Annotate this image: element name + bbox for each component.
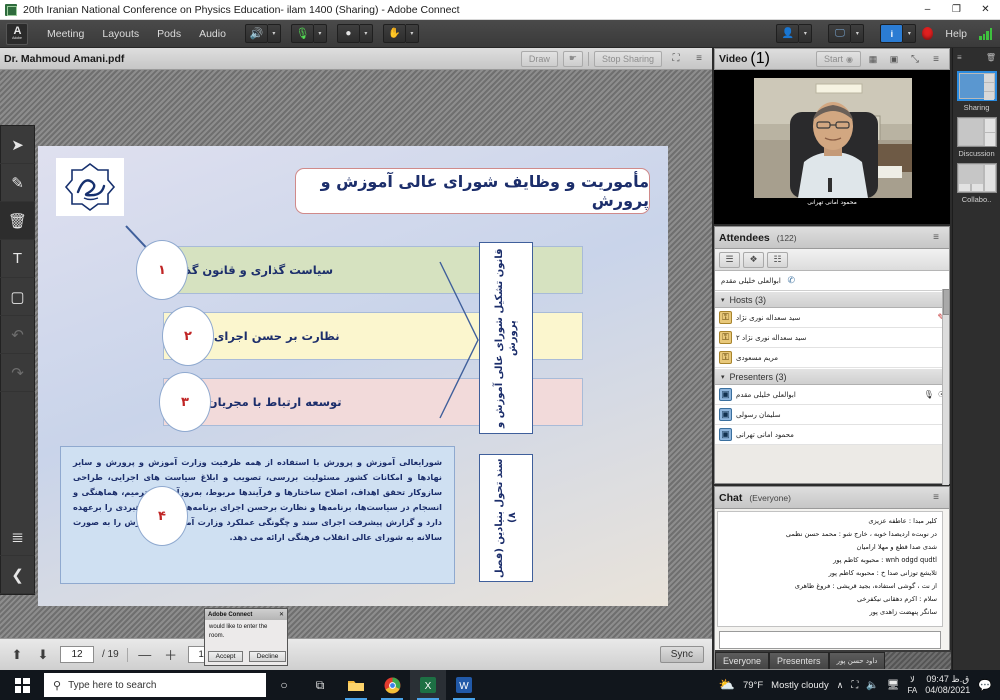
page-total-label: / 19 bbox=[102, 649, 119, 660]
word-icon[interactable]: W bbox=[446, 670, 482, 700]
stop-sharing-button[interactable]: Stop Sharing bbox=[594, 51, 662, 67]
start-button[interactable] bbox=[0, 670, 44, 700]
volume-icon[interactable]: 🔈 bbox=[866, 680, 878, 691]
sync-button[interactable]: Sync bbox=[660, 646, 704, 663]
attendees-scrollbar[interactable] bbox=[942, 289, 949, 485]
webcam-glyph: ● bbox=[345, 28, 351, 39]
weather-temperature[interactable]: 79°F bbox=[743, 680, 763, 691]
system-tray: ⛅ 79°F Mostly cloudy ∧ ⛶ 🔈 🖥 لا FA 09:47… bbox=[719, 674, 1000, 696]
info-caret-icon[interactable]: ▾ bbox=[903, 24, 916, 43]
tab-private-chat[interactable]: داود حسن پور bbox=[829, 652, 886, 669]
share-pod: Dr. Mahmoud Amani.pdf Draw ☛ Stop Sharin… bbox=[0, 48, 712, 670]
layout-item-collaboration[interactable]: Collabo.. bbox=[957, 163, 997, 204]
weather-description[interactable]: Mostly cloudy bbox=[771, 680, 829, 691]
video-pod-count: (1) bbox=[750, 50, 770, 68]
slide-bracket-icon bbox=[438, 256, 482, 426]
zoom-in-button[interactable]: ＋ bbox=[162, 645, 180, 664]
task-view-icon[interactable]: ⧉ bbox=[302, 670, 338, 700]
tray-expand-icon[interactable]: ∧ bbox=[837, 680, 844, 691]
chat-pod-header: Chat (Everyone) ≡ bbox=[715, 487, 949, 509]
windows-logo-icon bbox=[15, 678, 30, 693]
slide-number-1: ۱ bbox=[136, 240, 188, 300]
list-item: سلام : اکرم دهقانی نیکفرخی bbox=[723, 593, 937, 606]
video-pod-menu-icon[interactable]: ≡ bbox=[927, 51, 945, 67]
speaker-glyph: 🔊 bbox=[250, 27, 264, 40]
attendee-name: محمود امانی تهرانی bbox=[736, 431, 794, 439]
video-fullscreen-icon[interactable]: ⤡ bbox=[906, 51, 924, 67]
maximize-button[interactable]: ❐ bbox=[942, 0, 971, 20]
layouts-menu-icon[interactable]: ≡ bbox=[957, 53, 962, 62]
attendee-caret-icon[interactable]: ▾ bbox=[799, 24, 812, 43]
app-icon bbox=[5, 4, 17, 16]
previous-page-icon[interactable]: ⬆ bbox=[8, 647, 26, 663]
right-pod-column: Video (1) Start ◉ ▦ ▣ ⤡ ≡ bbox=[712, 48, 952, 670]
attendees-group-hosts[interactable]: ▾ Hosts (3) bbox=[715, 291, 949, 308]
attendees-pod-header: Attendees (122) ≡ bbox=[715, 227, 949, 249]
attendee-control: 👤 ▾ bbox=[776, 24, 812, 43]
attendee-self-name: ابوالعلی خلیلی مقدم bbox=[721, 277, 781, 285]
list-item: ثلایشع توزانی صدا خ : محبوبه کاظم پور bbox=[723, 567, 937, 580]
next-page-icon[interactable]: ⬇ bbox=[34, 647, 52, 663]
fullscreen-icon[interactable]: ⛶ bbox=[667, 51, 685, 67]
attendee-name: سید سعداله نوری نژاد bbox=[736, 314, 800, 322]
layouts-sidebar: ≡ 🗑 Sharing Discussion bbox=[952, 48, 1000, 670]
raise-hand-caret-icon[interactable]: ▾ bbox=[406, 24, 419, 43]
divider bbox=[588, 52, 589, 66]
share-pod-header: Dr. Mahmoud Amani.pdf Draw ☛ Stop Sharin… bbox=[0, 48, 712, 70]
list-item: wnh odgd qudtl : محبوبه کاظم پور bbox=[723, 554, 937, 567]
dialog-header: Adobe Connect ✕ bbox=[205, 609, 287, 620]
list-item: کلیر مبدا : عاطفه عزیزی bbox=[723, 515, 937, 528]
raise-hand-icon[interactable]: ✋ bbox=[383, 24, 406, 43]
emblem-svg bbox=[64, 162, 116, 212]
presenter-badge-icon: ▣ bbox=[719, 388, 732, 401]
notifications-icon[interactable]: 💬 bbox=[978, 679, 992, 692]
phone-icon: ✆ bbox=[785, 274, 798, 287]
layout-label-sharing: Sharing bbox=[957, 103, 997, 112]
windows-taskbar: ⚲ Type here to search ○ ⧉ X W bbox=[0, 670, 1000, 700]
annotation-toolbar: ➤ ✎ 🗑 T ▢ ↶ ↷ ≣ ❮ bbox=[0, 125, 35, 595]
dialog-title: Adobe Connect bbox=[208, 612, 252, 618]
list-item: از نت ، گوشی استفاده، بجید قریشی : فروغ … bbox=[723, 580, 937, 593]
webcam-speaker-name: محمود امانی تهرانی bbox=[714, 199, 950, 206]
layout-label-collaboration: Collabo.. bbox=[957, 195, 997, 204]
ministry-emblem-icon bbox=[56, 158, 124, 216]
chat-tab-filler bbox=[885, 652, 951, 669]
attendees-scroll-thumb[interactable] bbox=[943, 289, 950, 315]
svg-text:X: X bbox=[425, 681, 432, 692]
webcam-image bbox=[754, 78, 912, 198]
chat-pod-menu-icon[interactable]: ≡ bbox=[927, 490, 945, 506]
cortana-glyph: ○ bbox=[280, 678, 287, 692]
adobe-logo-word: Adobe bbox=[12, 36, 22, 41]
layouts-delete-icon[interactable]: 🗑 bbox=[986, 53, 996, 62]
chat-message-list[interactable]: کلیر مبدا : عاطفه عزیزی در نوبت‌ه اردیصد… bbox=[717, 511, 943, 627]
excel-icon[interactable]: X bbox=[410, 670, 446, 700]
attendee-name: مریم مسعودی bbox=[736, 354, 778, 362]
zoom-out-button[interactable]: — bbox=[136, 647, 154, 662]
layout-item-sharing[interactable]: Sharing bbox=[957, 71, 997, 112]
start-webcam-button[interactable]: Start ◉ bbox=[816, 51, 861, 67]
attendees-toolbar: ☰ ❖ ☷ bbox=[715, 249, 949, 271]
window-controls: – ❐ ✕ bbox=[913, 0, 1000, 20]
chrome-icon[interactable] bbox=[374, 670, 410, 700]
connection-status-icon[interactable] bbox=[979, 28, 996, 40]
dialog-buttons: Accept Decline bbox=[205, 651, 289, 662]
microphone-icon[interactable]: 🎙 bbox=[291, 24, 314, 43]
enter-room-request-dialog: Adobe Connect ✕ would like to enter the … bbox=[204, 608, 288, 666]
pod-menu-icon[interactable]: ≡ bbox=[690, 51, 708, 67]
list-item: شدی صدا قطع و مهلا ارامیان bbox=[723, 541, 937, 554]
layers-tool[interactable]: ≣ bbox=[0, 518, 35, 556]
menubar-right-group: 👤 ▾ 🖵 ▾ i ▾ Help bbox=[766, 24, 1000, 43]
host-badge-icon: ⚿ bbox=[719, 351, 732, 364]
weather-icon: ⛅ bbox=[719, 677, 735, 693]
meeting-stage: Dr. Mahmoud Amani.pdf Draw ☛ Stop Sharin… bbox=[0, 48, 1000, 670]
menu-pods[interactable]: Pods bbox=[148, 24, 190, 44]
dialog-message: would like to enter the room. bbox=[205, 620, 287, 644]
language-indicator[interactable]: لا FA bbox=[907, 674, 917, 696]
speaker-control: 🔊 ▾ bbox=[245, 24, 281, 43]
redo-tool[interactable]: ↷ bbox=[0, 354, 35, 392]
speaker-icon[interactable]: 🔊 bbox=[245, 24, 268, 43]
table-row[interactable]: ⚿ مریم مسعودی bbox=[715, 348, 949, 368]
raise-hand-control: ✋ ▾ bbox=[383, 24, 419, 43]
slide-side-box-top: قانون تشکیل شورای عالی آموزش و پرورش bbox=[479, 242, 533, 434]
clock-time: 09:47 ق.ظ bbox=[926, 674, 969, 684]
video-pod-body: محمود امانی تهرانی bbox=[714, 70, 950, 224]
adobe-logo-icon: A Adobe bbox=[6, 23, 28, 45]
info-glyph: i bbox=[891, 29, 894, 39]
presenter-badge-icon: ▣ bbox=[719, 428, 732, 441]
slide-number-3: ۳ bbox=[159, 372, 211, 432]
slide-title: مأموریت و وظایف شورای عالی آموزش و پرورش bbox=[295, 168, 650, 214]
list-view-icon[interactable]: ☰ bbox=[719, 252, 740, 268]
video-pod-header: Video (1) Start ◉ ▦ ▣ ⤡ ≡ bbox=[714, 48, 950, 70]
screen-share-control: 🖵 ▾ bbox=[828, 24, 864, 43]
divider bbox=[127, 648, 128, 662]
attendees-pod-title: Attendees bbox=[719, 232, 770, 244]
slide-side-box-bottom-label: سند تحول بنیادین (فصل ۸) bbox=[493, 455, 519, 581]
undo-tool[interactable]: ↶ bbox=[0, 316, 35, 354]
hosts-group-label: Hosts (3) bbox=[730, 295, 767, 305]
layout-thumb-discussion bbox=[957, 117, 997, 147]
decline-button[interactable]: Decline bbox=[249, 651, 287, 662]
file-explorer-icon[interactable] bbox=[338, 670, 374, 700]
mic-glyph: 🎙 bbox=[295, 27, 309, 40]
language-line2: FA bbox=[907, 686, 917, 695]
table-row[interactable]: ⚿ سید سعداله نوری نژاد ✎ bbox=[715, 308, 949, 328]
screen-share-icon[interactable]: 🖵 bbox=[828, 24, 851, 43]
attendee-icon[interactable]: 👤 bbox=[776, 24, 799, 43]
hand-glyph: ✋ bbox=[388, 28, 400, 39]
attendees-pod: Attendees (122) ≡ ☰ ❖ ☷ ✆ ابوالعلی خلیلی… bbox=[714, 226, 950, 484]
slide-side-box-top-label: قانون تشکیل شورای عالی آموزش و پرورش bbox=[493, 243, 519, 433]
adobe-logo-letter: A bbox=[14, 27, 21, 36]
menu-meeting[interactable]: Meeting bbox=[38, 24, 93, 44]
attendees-group-presenters[interactable]: ▾ Presenters (3) bbox=[715, 368, 949, 385]
list-item: سانگر پنهضت زاهدی پور bbox=[723, 606, 937, 619]
presenter-badge-icon: ▣ bbox=[719, 408, 732, 421]
microphone-control: 🎙 ▾ bbox=[291, 24, 327, 43]
chat-pod: Chat (Everyone) ≡ کلیر مبدا : عاطفه عزیز… bbox=[714, 486, 950, 670]
network-icon[interactable]: 🖥 bbox=[887, 680, 900, 691]
menu-audio[interactable]: Audio bbox=[190, 24, 235, 44]
webcam-caret-icon[interactable]: ▾ bbox=[360, 24, 373, 43]
layouts-header: ≡ 🗑 bbox=[953, 48, 1000, 66]
window-title: 20th Iranian National Conference on Phys… bbox=[23, 4, 460, 16]
minimize-button[interactable]: – bbox=[913, 0, 942, 20]
cortana-icon[interactable]: ○ bbox=[266, 670, 302, 700]
language-line1: لا bbox=[910, 675, 915, 684]
select-tool[interactable]: ➤ bbox=[0, 126, 35, 164]
attendee-name: ابوالعلی خلیلی مقدم bbox=[736, 391, 796, 399]
filmstrip-view-icon[interactable]: ▣ bbox=[885, 51, 903, 67]
presentation-slide[interactable]: مأموریت و وظایف شورای عالی آموزش و پرورش… bbox=[38, 146, 668, 606]
presenters-group-label: Presenters (3) bbox=[730, 372, 787, 382]
table-row[interactable]: ▣ سلیمان رسولی bbox=[715, 405, 949, 425]
app-menubar: A Adobe Meeting Layouts Pods Audio 🔊 ▾ 🎙… bbox=[0, 20, 1000, 48]
layout-thumb-collaboration bbox=[957, 163, 997, 193]
help-menu[interactable]: Help bbox=[939, 25, 973, 43]
attendee-name: سلیمان رسولی bbox=[736, 411, 781, 419]
slide-number-2: ۲ bbox=[162, 306, 214, 366]
attendee-name: سید سعداله نوری نژاد ۲ bbox=[736, 334, 806, 342]
host-badge-icon: ⚿ bbox=[719, 331, 732, 344]
svg-text:W: W bbox=[459, 681, 469, 692]
delete-tool[interactable]: 🗑 bbox=[0, 202, 35, 240]
info-icon[interactable]: i bbox=[880, 24, 903, 43]
close-button[interactable]: ✕ bbox=[971, 0, 1000, 20]
chat-scope-label: (Everyone) bbox=[749, 493, 791, 503]
speaker-caret-icon[interactable]: ▾ bbox=[268, 24, 281, 43]
webcam-icon[interactable]: ● bbox=[337, 24, 360, 43]
adobe-connect-window: 20th Iranian National Conference on Phys… bbox=[0, 0, 1000, 700]
tab-presenters[interactable]: Presenters bbox=[769, 652, 829, 669]
webcam-control: ● ▾ bbox=[337, 24, 373, 43]
menu-layouts[interactable]: Layouts bbox=[93, 24, 148, 44]
attendees-pod-menu-icon[interactable]: ≡ bbox=[927, 230, 945, 246]
table-row[interactable]: ▣ ابوالعلی خلیلی مقدم 🎙 ☉ bbox=[715, 385, 949, 405]
hosts-collapse-icon: ▾ bbox=[721, 296, 725, 304]
attendee-glyph: 👤 bbox=[782, 28, 794, 39]
marker-tool[interactable]: ✎ bbox=[0, 164, 35, 202]
host-badge-icon: ⚿ bbox=[719, 311, 732, 324]
search-input[interactable]: ⚲ Type here to search bbox=[44, 673, 266, 697]
window-titlebar: 20th Iranian National Conference on Phys… bbox=[0, 0, 1000, 20]
attendees-count: (122) bbox=[777, 233, 797, 243]
slide-side-box-bottom: سند تحول بنیادین (فصل ۸) bbox=[479, 454, 533, 582]
pointer-button[interactable]: ☛ bbox=[563, 51, 583, 67]
tab-everyone[interactable]: Everyone bbox=[715, 652, 769, 669]
pdf-navigation-toolbar: ⬆ ⬇ 12 / 19 — ＋ 100% ▾ ✋ Sync bbox=[0, 638, 712, 670]
draw-button[interactable]: Draw bbox=[521, 51, 558, 67]
screen-share-caret-icon[interactable]: ▾ bbox=[851, 24, 864, 43]
dialog-close-icon[interactable]: ✕ bbox=[279, 611, 284, 618]
attendee-self-row[interactable]: ✆ ابوالعلی خلیلی مقدم bbox=[715, 271, 949, 291]
layout-item-discussion[interactable]: Discussion bbox=[957, 117, 997, 158]
pods-view-icon[interactable]: ❖ bbox=[743, 252, 764, 268]
share-pod-title: Dr. Mahmoud Amani.pdf bbox=[4, 53, 124, 65]
camera-icon[interactable]: ⛶ bbox=[851, 680, 858, 691]
search-icon: ⚲ bbox=[53, 679, 61, 692]
task-view-glyph: ⧉ bbox=[316, 678, 325, 693]
layout-label-discussion: Discussion bbox=[957, 149, 997, 158]
microphone-status-icon: 🎙 bbox=[924, 390, 934, 399]
text-tool[interactable]: T bbox=[0, 240, 35, 278]
start-webcam-label: Start bbox=[824, 54, 843, 64]
table-row[interactable]: ⚿ سید سعداله نوری نژاد ۲ bbox=[715, 328, 949, 348]
slide-paragraph: شورایعالی آموزش و پرورش با استفاده از هم… bbox=[60, 446, 455, 584]
list-item: در نوبت‌ه اردیصدا خوبه ، خارج شو : محمد … bbox=[723, 528, 937, 541]
status-view-icon[interactable]: ☷ bbox=[767, 252, 788, 268]
clock-date: 04/08/2021 bbox=[925, 685, 970, 695]
presenters-collapse-icon: ▾ bbox=[721, 373, 725, 381]
share-glyph: 🖵 bbox=[835, 28, 845, 39]
share-pod-body: مأموریت و وظایف شورای عالی آموزش و پرورش… bbox=[0, 70, 712, 670]
search-placeholder: Type here to search bbox=[68, 680, 156, 691]
chat-tab-bar: Everyone Presenters داود حسن پور bbox=[715, 650, 951, 669]
table-row[interactable]: ▣ محمود امانی تهرانی bbox=[715, 425, 949, 445]
shape-tool[interactable]: ▢ bbox=[0, 278, 35, 316]
slide-bar-1-label: سیاست گذاری و قانون گذاری bbox=[164, 263, 333, 277]
chat-pod-title: Chat bbox=[719, 492, 742, 504]
grid-view-icon[interactable]: ▦ bbox=[864, 51, 882, 67]
clock[interactable]: 09:47 ق.ظ 04/08/2021 bbox=[925, 674, 970, 696]
page-number-input[interactable]: 12 bbox=[60, 646, 94, 663]
webcam-small-icon: ◉ bbox=[846, 55, 853, 64]
webcam-feed[interactable] bbox=[754, 78, 912, 198]
recording-indicator-icon[interactable] bbox=[922, 27, 933, 40]
collapse-toolbar-button[interactable]: ❮ bbox=[0, 556, 35, 594]
info-control: i ▾ bbox=[880, 24, 916, 43]
slide-number-4: ۴ bbox=[136, 486, 188, 546]
accept-button[interactable]: Accept bbox=[208, 651, 244, 662]
video-pod: Video (1) Start ◉ ▦ ▣ ⤡ ≡ bbox=[714, 48, 950, 224]
microphone-caret-icon[interactable]: ▾ bbox=[314, 24, 327, 43]
video-pod-title: Video bbox=[719, 53, 747, 65]
chat-input[interactable] bbox=[719, 631, 941, 649]
layout-thumb-sharing bbox=[957, 71, 997, 101]
